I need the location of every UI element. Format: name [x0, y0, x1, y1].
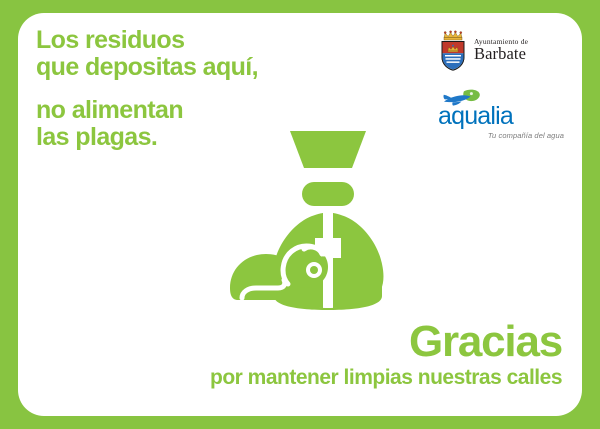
- thanks-subline: por mantener limpias nuestras calles: [82, 366, 562, 390]
- logo-ayuntamiento-barbate: Ayuntamiento de Barbate: [438, 27, 566, 73]
- poster-frame: Los residuos que depositas aquí, no alim…: [0, 0, 600, 429]
- headline-line-2: que depositas aquí,: [36, 54, 336, 81]
- aqualia-wordmark: aqualia: [438, 104, 566, 128]
- thanks-block: Gracias por mantener limpias nuestras ca…: [82, 320, 562, 390]
- poster-panel: Los residuos que depositas aquí, no alim…: [18, 13, 582, 416]
- logo-group: Ayuntamiento de Barbate aqu: [438, 27, 566, 140]
- barbate-line-2: Barbate: [474, 46, 528, 63]
- aqualia-tagline: Tu compañía del agua: [438, 131, 566, 140]
- logo-aqualia: aqualia Tu compañía del agua: [438, 89, 566, 140]
- thanks-headline: Gracias: [82, 320, 562, 364]
- crest-icon: [438, 29, 468, 71]
- illustration-bag-and-rat: [218, 118, 438, 318]
- headline-line-1: Los residuos: [36, 27, 336, 54]
- barbate-wordmark: Ayuntamiento de Barbate: [474, 38, 528, 63]
